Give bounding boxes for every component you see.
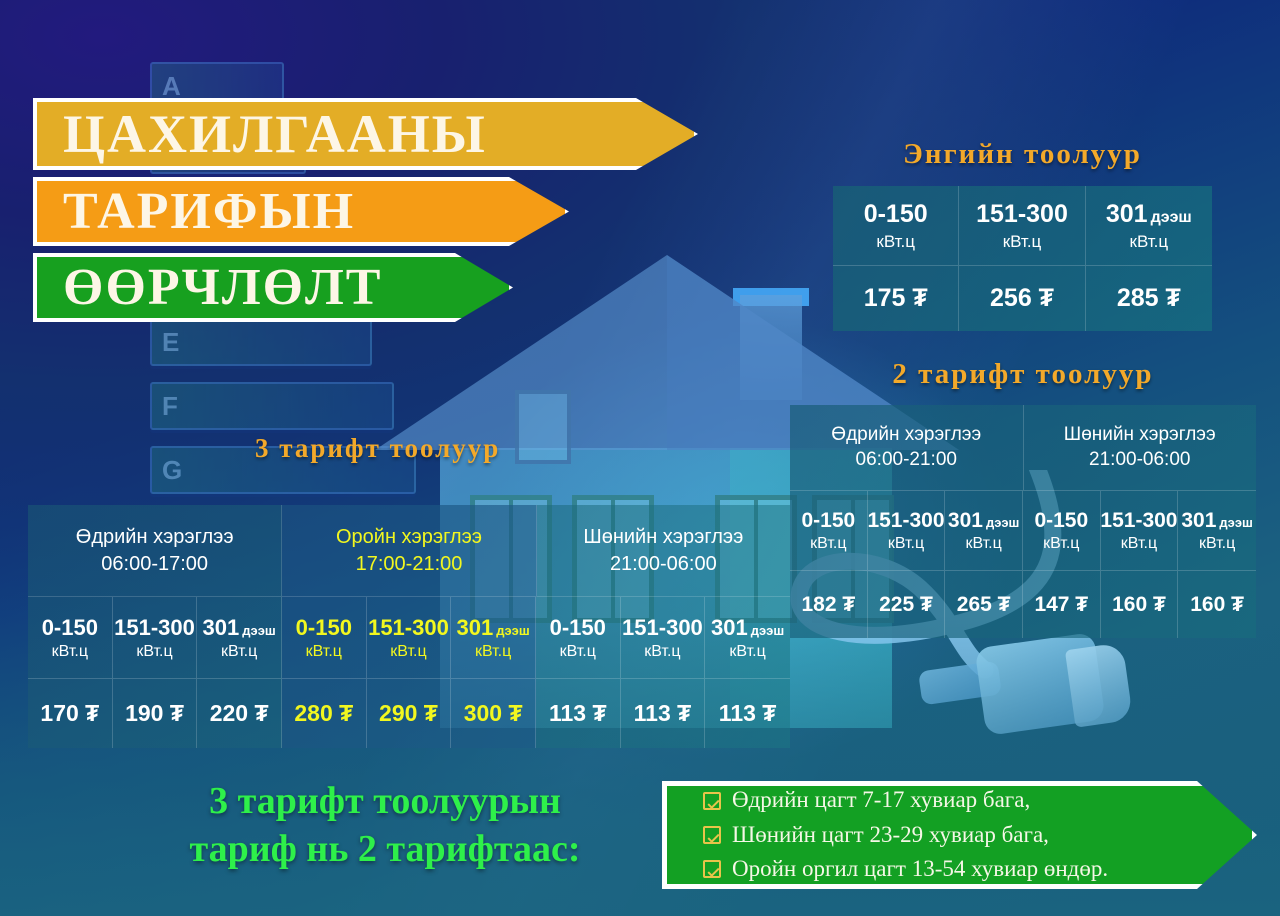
tier-price: 113 ₮ bbox=[549, 700, 607, 727]
title-block: ЦАХИЛГААНЫ ТАРИФЫН ӨӨРЧЛӨЛТ bbox=[33, 98, 698, 322]
usage-period-header: Шөнийн хэрэглээ21:00-06:00 bbox=[1024, 405, 1257, 491]
tier-price-cell: 147 ₮ bbox=[1023, 571, 1101, 638]
tier-range: 0-150 bbox=[1034, 509, 1088, 533]
standard-meter-table: 0-150кВт.ц151-300кВт.ц301дээшкВт.ц175 ₮2… bbox=[833, 186, 1212, 331]
tier-range: 0-150 bbox=[296, 615, 352, 641]
energy-bar-letter: F bbox=[162, 391, 178, 422]
tier-header-cell: 0-150кВт.ц bbox=[1023, 491, 1101, 571]
usage-period-name: Өдрийн хэрэглээ bbox=[831, 423, 981, 448]
tier-price-cell: 290 ₮ bbox=[367, 679, 452, 748]
benefits-arrow-panel: Өдрийн цагт 7-17 хувиар бага,Шөнийн цагт… bbox=[662, 781, 1257, 889]
tier-unit: кВт.ц bbox=[965, 535, 1001, 553]
benefit-text: Шөнийн цагт 23-29 хувиар бага, bbox=[732, 820, 1049, 850]
title-arrow-3: ӨӨРЧЛӨЛТ bbox=[33, 253, 513, 322]
energy-bar-e: E bbox=[150, 318, 372, 366]
tier-range-suffix: дээш bbox=[1151, 209, 1192, 227]
tier-range: 0-150 bbox=[801, 509, 855, 533]
tier-price: 113 ₮ bbox=[634, 700, 692, 727]
tier-price: 280 ₮ bbox=[294, 700, 353, 727]
tier-header-cell: 0-150кВт.ц bbox=[833, 186, 959, 266]
tier-unit: кВт.ц bbox=[221, 643, 257, 661]
tier-range: 151-300 bbox=[867, 509, 944, 533]
tier-unit: кВт.ц bbox=[136, 643, 172, 661]
tier-header-cell: 151-300кВт.ц bbox=[113, 597, 198, 679]
tier-unit: кВт.ц bbox=[1199, 535, 1235, 553]
tier-unit: кВт.ц bbox=[475, 643, 511, 661]
energy-bar-letter: E bbox=[162, 327, 179, 358]
tier-header-cell: 301дээшкВт.ц bbox=[705, 597, 790, 679]
tier-range-suffix: дээш bbox=[496, 623, 529, 638]
three-tariff-table: Өдрийн хэрэглээ06:00-17:00Оройн хэрэглээ… bbox=[28, 505, 790, 748]
group-header-row: Өдрийн хэрэглээ06:00-17:00Оройн хэрэглээ… bbox=[28, 505, 790, 597]
tier-price: 170 ₮ bbox=[40, 700, 99, 727]
tier-header-cell: 301дээшкВт.ц bbox=[945, 491, 1023, 571]
usage-period-header: Өдрийн хэрэглээ06:00-17:00 bbox=[28, 505, 282, 597]
tier-price-cell: 113 ₮ bbox=[536, 679, 621, 748]
benefit-text: Оройн оргил цагт 13-54 хувиар өндөр. bbox=[732, 854, 1108, 884]
tier-price-cell: 280 ₮ bbox=[282, 679, 367, 748]
title-arrow-1: ЦАХИЛГААНЫ bbox=[33, 98, 698, 170]
tier-price-cell: 300 ₮ bbox=[451, 679, 536, 748]
title-line-2: ТАРИФЫН bbox=[37, 181, 355, 242]
tier-header-row: 0-150кВт.ц151-300кВт.ц301дээшкВт.ц0-150к… bbox=[28, 597, 790, 679]
tier-price-cell: 285 ₮ bbox=[1086, 266, 1212, 331]
energy-bar-f: F bbox=[150, 382, 394, 430]
tier-price: 265 ₮ bbox=[957, 593, 1011, 617]
tier-range: 0-150 bbox=[864, 200, 928, 229]
tier-range: 301 bbox=[203, 615, 240, 641]
tier-price-cell: 160 ₮ bbox=[1178, 571, 1256, 638]
tier-header-cell: 301дээшкВт.ц bbox=[451, 597, 536, 679]
title-line-1: ЦАХИЛГААНЫ bbox=[37, 102, 487, 166]
standard-meter-heading: Энгийн тоолуур bbox=[833, 138, 1212, 171]
tier-range: 151-300 bbox=[368, 615, 449, 641]
tier-price: 220 ₮ bbox=[210, 700, 269, 727]
tier-price-cell: 220 ₮ bbox=[197, 679, 282, 748]
benefit-item: Шөнийн цагт 23-29 хувиар бага, bbox=[703, 820, 1252, 850]
tier-price-cell: 225 ₮ bbox=[868, 571, 946, 638]
tier-header-cell: 0-150кВт.ц bbox=[536, 597, 621, 679]
price-row: 170 ₮190 ₮220 ₮280 ₮290 ₮300 ₮113 ₮113 ₮… bbox=[28, 679, 790, 748]
usage-period-name: Оройн хэрэглээ bbox=[336, 524, 482, 551]
tier-price-cell: 182 ₮ bbox=[790, 571, 868, 638]
tier-price: 175 ₮ bbox=[864, 284, 928, 313]
tier-header-cell: 301дээшкВт.ц bbox=[1178, 491, 1256, 571]
price-row: 182 ₮225 ₮265 ₮147 ₮160 ₮160 ₮ bbox=[790, 571, 1256, 638]
usage-period-hours: 17:00-21:00 bbox=[356, 551, 463, 578]
tier-price-cell: 170 ₮ bbox=[28, 679, 113, 748]
checkbox-check-icon bbox=[703, 826, 721, 844]
tier-header-cell: 151-300кВт.ц bbox=[868, 491, 946, 571]
usage-period-hours: 21:00-06:00 bbox=[610, 551, 717, 578]
tier-range: 301 bbox=[1106, 200, 1148, 229]
tier-header-cell: 0-150кВт.ц bbox=[28, 597, 113, 679]
usage-period-hours: 06:00-21:00 bbox=[856, 448, 957, 473]
tier-range: 301 bbox=[457, 615, 494, 641]
tier-unit: кВт.ц bbox=[1043, 535, 1079, 553]
tier-header-cell: 151-300кВт.ц bbox=[1101, 491, 1179, 571]
three-tariff-heading: 3 тарифт тоолуур bbox=[255, 433, 500, 464]
tier-price-cell: 113 ₮ bbox=[705, 679, 790, 748]
energy-bar-letter: A bbox=[162, 71, 181, 102]
benefit-item: Оройн оргил цагт 13-54 хувиар өндөр. bbox=[703, 854, 1252, 884]
tier-price: 160 ₮ bbox=[1112, 593, 1166, 617]
infographic-poster: ABCDEFG ЦАХИЛГААНЫ ТАРИФЫН ӨӨРЧЛӨЛТ bbox=[0, 0, 1280, 916]
tier-header-cell: 0-150кВт.ц bbox=[282, 597, 367, 679]
title-line-3: ӨӨРЧЛӨЛТ bbox=[37, 257, 382, 318]
usage-period-hours: 06:00-17:00 bbox=[101, 551, 208, 578]
benefit-item: Өдрийн цагт 7-17 хувиар бага, bbox=[703, 785, 1252, 815]
tier-price: 113 ₮ bbox=[719, 700, 777, 727]
tier-unit: кВт.ц bbox=[888, 535, 924, 553]
tier-header-cell: 301дээшкВт.ц bbox=[1086, 186, 1212, 266]
two-tariff-heading: 2 тарифт тоолуур bbox=[790, 358, 1256, 391]
tier-header-cell: 151-300кВт.ц bbox=[367, 597, 452, 679]
tier-header-row: 0-150кВт.ц151-300кВт.ц301дээшкВт.ц0-150к… bbox=[790, 491, 1256, 571]
usage-period-hours: 21:00-06:00 bbox=[1089, 448, 1190, 473]
usage-period-header: Шөнийн хэрэглээ21:00-06:00 bbox=[537, 505, 790, 597]
tier-range: 151-300 bbox=[622, 615, 703, 641]
comparison-note: 3 тарифт тоолуурын тариф нь 2 тарифтаас: bbox=[120, 778, 650, 873]
tier-price: 225 ₮ bbox=[879, 593, 933, 617]
energy-bar-letter: G bbox=[162, 455, 182, 486]
tier-unit: кВт.ц bbox=[560, 643, 596, 661]
tier-price: 160 ₮ bbox=[1190, 593, 1244, 617]
comparison-note-line-1: 3 тарифт тоолуурын bbox=[120, 778, 650, 826]
checkbox-check-icon bbox=[703, 792, 721, 810]
group-header-row: Өдрийн хэрэглээ06:00-21:00Шөнийн хэрэглэ… bbox=[790, 405, 1256, 491]
benefit-text: Өдрийн цагт 7-17 хувиар бага, bbox=[732, 785, 1030, 815]
tier-unit: кВт.ц bbox=[644, 643, 680, 661]
usage-period-header: Оройн хэрэглээ17:00-21:00 bbox=[282, 505, 536, 597]
tier-price-cell: 190 ₮ bbox=[113, 679, 198, 748]
tier-unit: кВт.ц bbox=[1121, 535, 1157, 553]
tier-header-cell: 151-300кВт.ц bbox=[959, 186, 1085, 266]
tier-range-suffix: дээш bbox=[1219, 515, 1252, 530]
tier-range-suffix: дээш bbox=[986, 515, 1019, 530]
tier-unit: кВт.ц bbox=[306, 643, 342, 661]
tier-unit: кВт.ц bbox=[1130, 232, 1169, 252]
tier-price-cell: 113 ₮ bbox=[621, 679, 706, 748]
tier-range-suffix: дээш bbox=[242, 623, 275, 638]
tier-price: 190 ₮ bbox=[125, 700, 184, 727]
tier-price-cell: 256 ₮ bbox=[959, 266, 1085, 331]
tier-price: 300 ₮ bbox=[464, 700, 523, 727]
usage-period-name: Шөнийн хэрэглээ bbox=[1064, 423, 1216, 448]
tier-price: 256 ₮ bbox=[990, 284, 1054, 313]
tier-range: 151-300 bbox=[1100, 509, 1177, 533]
two-tariff-table: Өдрийн хэрэглээ06:00-21:00Шөнийн хэрэглэ… bbox=[790, 405, 1256, 638]
tier-header-cell: 301дээшкВт.ц bbox=[197, 597, 282, 679]
tier-header-cell: 151-300кВт.ц bbox=[621, 597, 706, 679]
tier-price-cell: 160 ₮ bbox=[1101, 571, 1179, 638]
tier-range: 151-300 bbox=[976, 200, 1068, 229]
tier-price: 182 ₮ bbox=[801, 593, 855, 617]
usage-period-name: Шөнийн хэрэглээ bbox=[583, 524, 743, 551]
tier-header-row: 0-150кВт.ц151-300кВт.ц301дээшкВт.ц bbox=[833, 186, 1212, 266]
tier-range: 301 bbox=[711, 615, 748, 641]
tier-unit: кВт.ц bbox=[876, 232, 915, 252]
price-row: 175 ₮256 ₮285 ₮ bbox=[833, 266, 1212, 331]
usage-period-name: Өдрийн хэрэглээ bbox=[76, 524, 234, 551]
tier-header-cell: 0-150кВт.ц bbox=[790, 491, 868, 571]
tier-price: 285 ₮ bbox=[1117, 284, 1181, 313]
tier-unit: кВт.ц bbox=[390, 643, 426, 661]
tier-range: 0-150 bbox=[42, 615, 98, 641]
tier-unit: кВт.ц bbox=[1003, 232, 1042, 252]
gable-window bbox=[515, 390, 571, 464]
checkbox-check-icon bbox=[703, 860, 721, 878]
tier-price: 147 ₮ bbox=[1034, 593, 1088, 617]
usage-period-header: Өдрийн хэрэглээ06:00-21:00 bbox=[790, 405, 1024, 491]
tier-unit: кВт.ц bbox=[52, 643, 88, 661]
tier-range: 301 bbox=[948, 509, 983, 533]
tier-range-suffix: дээш bbox=[751, 623, 784, 638]
tier-price-cell: 265 ₮ bbox=[945, 571, 1023, 638]
tier-range: 301 bbox=[1181, 509, 1216, 533]
tier-price-cell: 175 ₮ bbox=[833, 266, 959, 331]
comparison-note-line-2: тариф нь 2 тарифтаас: bbox=[120, 826, 650, 874]
tier-unit: кВт.ц bbox=[810, 535, 846, 553]
tier-range: 0-150 bbox=[550, 615, 606, 641]
tier-unit: кВт.ц bbox=[729, 643, 765, 661]
title-arrow-2: ТАРИФЫН bbox=[33, 177, 569, 246]
tier-price: 290 ₮ bbox=[379, 700, 438, 727]
tier-range: 151-300 bbox=[114, 615, 195, 641]
